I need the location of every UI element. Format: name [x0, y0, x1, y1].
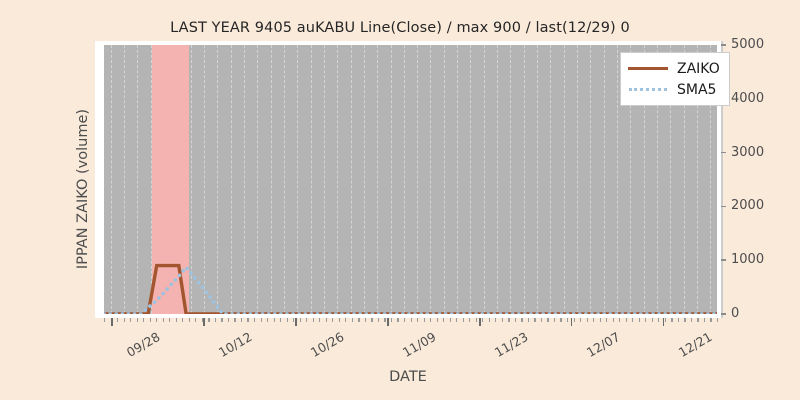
x-tick-minor [639, 318, 640, 322]
x-tick-minor [339, 318, 340, 322]
x-tick-minor [267, 318, 268, 322]
x-tick-minor [300, 318, 301, 322]
x-tick-minor [150, 318, 151, 322]
x-tick-minor [626, 318, 627, 322]
y-tick-mark [721, 152, 726, 154]
x-tick-minor [678, 318, 679, 322]
x-tick-minor [613, 318, 614, 322]
x-tick-minor [437, 318, 438, 322]
x-tick-minor [619, 318, 620, 322]
x-tick-minor [326, 318, 327, 322]
x-tick-minor [313, 318, 314, 322]
x-tick-minor [450, 318, 451, 322]
x-tick-minor [143, 318, 144, 322]
x-tick-minor [489, 318, 490, 322]
x-tick-minor [397, 318, 398, 322]
x-tick-minor [404, 318, 405, 322]
x-tick-label: 10/12 [216, 329, 255, 360]
x-tick-minor [352, 318, 353, 322]
x-tick-minor [104, 318, 105, 322]
x-axis: 09/2810/1210/2611/0911/2312/0712/21 [95, 318, 721, 370]
x-tick-minor [710, 318, 711, 322]
x-tick-minor [274, 318, 275, 322]
x-tick-label: 09/28 [124, 329, 163, 360]
x-tick-major [479, 318, 480, 326]
x-tick-minor [208, 318, 209, 322]
x-tick-minor [411, 318, 412, 322]
x-tick-minor [606, 318, 607, 322]
x-tick-minor [306, 318, 307, 322]
x-tick-minor [547, 318, 548, 322]
x-tick-major [571, 318, 572, 326]
x-tick-label: 12/21 [676, 329, 715, 360]
y-tick-label: 3000 [731, 144, 764, 162]
x-tick-minor [691, 318, 692, 322]
legend-swatch-dotted-icon [628, 84, 668, 96]
x-tick-minor [652, 318, 653, 322]
legend-label: SMA5 [677, 82, 716, 98]
x-tick-minor [645, 318, 646, 322]
x-tick-minor [234, 318, 235, 322]
y-tick-label: 4000 [731, 90, 764, 108]
legend-swatch-line-icon [628, 63, 668, 75]
x-tick-minor [182, 318, 183, 322]
y-tick-mark [721, 206, 726, 208]
x-tick-minor [280, 318, 281, 322]
x-tick-minor [358, 318, 359, 322]
legend-item-zaiko: ZAIKO [628, 58, 720, 79]
x-tick-minor [371, 318, 372, 322]
x-tick-minor [495, 318, 496, 322]
x-tick-minor [704, 318, 705, 322]
x-tick-minor [261, 318, 262, 322]
x-tick-minor [482, 318, 483, 322]
x-tick-minor [137, 318, 138, 322]
x-tick-minor [476, 318, 477, 322]
x-tick-minor [554, 318, 555, 322]
x-tick-minor [717, 318, 718, 322]
x-tick-minor [254, 318, 255, 322]
x-tick-minor [319, 318, 320, 322]
x-tick-minor [658, 318, 659, 322]
x-tick-minor [293, 318, 294, 322]
x-tick-minor [189, 318, 190, 322]
x-tick-minor [195, 318, 196, 322]
y-tick-label: 2000 [731, 197, 764, 215]
x-tick-minor [665, 318, 666, 322]
chart-title: LAST YEAR 9405 auKABU Line(Close) / max … [0, 20, 800, 36]
x-tick-minor [117, 318, 118, 322]
x-tick-minor [600, 318, 601, 322]
x-tick-minor [671, 318, 672, 322]
x-tick-minor [130, 318, 131, 322]
series-line-zaiko [104, 266, 717, 314]
x-tick-major [663, 318, 664, 326]
x-tick-minor [443, 318, 444, 322]
x-tick-minor [463, 318, 464, 322]
x-tick-minor [287, 318, 288, 322]
x-tick-major [111, 318, 112, 326]
chart-legend: ZAIKO SMA5 [620, 52, 730, 106]
x-tick-minor [241, 318, 242, 322]
x-tick-minor [567, 318, 568, 322]
x-tick-label: 11/23 [492, 329, 531, 360]
x-tick-minor [560, 318, 561, 322]
y-axis: 010002000300040005000 [721, 41, 796, 318]
x-tick-minor [391, 318, 392, 322]
x-tick-label: 11/09 [400, 329, 439, 360]
x-tick-minor [176, 318, 177, 322]
y-tick-mark [721, 313, 726, 315]
x-tick-minor [541, 318, 542, 322]
x-tick-minor [424, 318, 425, 322]
x-tick-minor [163, 318, 164, 322]
y-axis-title: IPPAN ZAIKO (volume) [75, 54, 91, 324]
x-tick-minor [228, 318, 229, 322]
series-line-sma5 [104, 267, 717, 314]
y-tick-mark [721, 259, 726, 261]
x-tick-minor [332, 318, 333, 322]
x-tick-minor [574, 318, 575, 322]
x-tick-minor [221, 318, 222, 322]
x-tick-minor [156, 318, 157, 322]
y-tick-label: 1000 [731, 251, 764, 269]
x-tick-minor [587, 318, 588, 322]
x-tick-minor [534, 318, 535, 322]
x-tick-label: 12/07 [584, 329, 623, 360]
x-tick-minor [515, 318, 516, 322]
x-tick-minor [508, 318, 509, 322]
x-tick-minor [247, 318, 248, 322]
x-axis-title: DATE [99, 369, 717, 385]
x-tick-minor [430, 318, 431, 322]
x-tick-minor [456, 318, 457, 322]
x-tick-minor [684, 318, 685, 322]
x-tick-minor [417, 318, 418, 322]
x-tick-minor [580, 318, 581, 322]
x-tick-minor [378, 318, 379, 322]
x-tick-minor [697, 318, 698, 322]
x-tick-minor [521, 318, 522, 322]
x-tick-minor [169, 318, 170, 322]
y-tick-label: 5000 [731, 36, 764, 54]
legend-label: ZAIKO [677, 61, 720, 77]
x-tick-major [387, 318, 388, 326]
x-tick-minor [124, 318, 125, 322]
x-tick-minor [365, 318, 366, 322]
x-tick-minor [502, 318, 503, 322]
y-tick-mark [721, 44, 726, 46]
x-tick-minor [215, 318, 216, 322]
y-tick-label: 0 [731, 305, 739, 323]
x-tick-minor [384, 318, 385, 322]
x-tick-minor [345, 318, 346, 322]
x-tick-major [203, 318, 204, 326]
x-tick-label: 10/26 [308, 329, 347, 360]
x-tick-minor [593, 318, 594, 322]
x-tick-minor [632, 318, 633, 322]
x-tick-minor [469, 318, 470, 322]
x-tick-major [295, 318, 296, 326]
chart-figure: LAST YEAR 9405 auKABU Line(Close) / max … [0, 0, 800, 400]
legend-item-sma5: SMA5 [628, 79, 720, 100]
x-tick-minor [528, 318, 529, 322]
